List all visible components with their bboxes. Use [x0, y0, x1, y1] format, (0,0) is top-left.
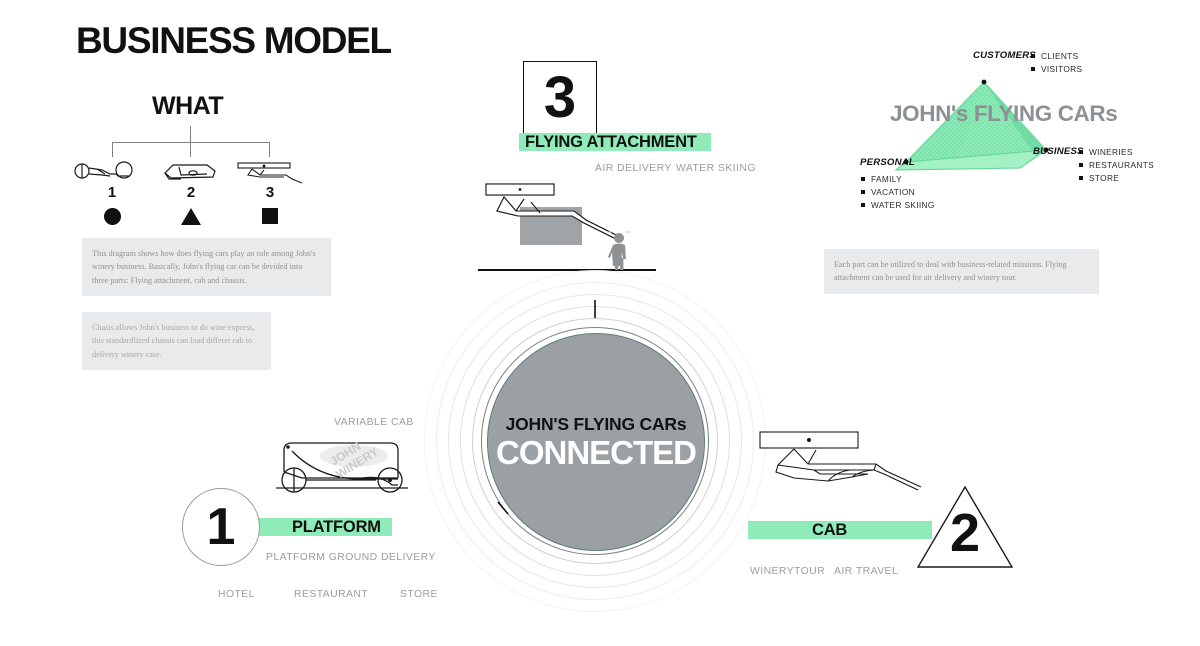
vertex-label-personal: PERSONAL: [860, 157, 915, 168]
badge-platform[interactable]: 1: [182, 488, 260, 566]
caption-air-travel: AIR TRAVEL: [834, 566, 898, 577]
platform-bar[interactable]: PLATFORM: [248, 518, 392, 536]
what-item-3-number: 3: [230, 184, 310, 201]
platform-vehicle-illustration: JOHN WINERY: [262, 430, 422, 500]
flying-attachment-bar[interactable]: FLYING ATTACHMENT: [519, 133, 711, 151]
caption-restaurant: RESTAURANT: [294, 589, 368, 600]
caption-air-delivery: AIR DELIVERY: [595, 163, 672, 174]
caption-water-skiing: WATER SKIING: [676, 163, 756, 174]
triangle-overlay-text: JOHN's FLYING CARs: [890, 101, 1117, 127]
cab-bar[interactable]: CAB: [748, 521, 932, 539]
hub-core[interactable]: JOHN'S FLYING CARs CONNECTED: [487, 333, 705, 551]
bracket-drop-left: [112, 142, 113, 157]
bracket-drop-mid: [190, 142, 191, 157]
triangle-icon: [181, 208, 201, 225]
vertex-list-customers: CLIENTS VISITORS: [1031, 50, 1082, 76]
list-item: VACATION: [861, 186, 935, 199]
flying-attachment-label: FLYING ATTACHMENT: [519, 133, 697, 152]
badge-cab-number: 2: [915, 506, 1015, 560]
cab-label: CAB: [748, 521, 847, 540]
hub-title-line2: CONNECTED: [496, 436, 696, 471]
flying-attachment-illustration: [478, 180, 698, 280]
chassis-platform-icon: [72, 158, 152, 184]
platform-label: PLATFORM: [248, 518, 381, 537]
list-item: WATER SKIING: [861, 199, 935, 212]
bracket-stem: [190, 126, 191, 142]
cab-icon: [151, 158, 231, 184]
what-item-2-number: 2: [151, 184, 231, 201]
caption-variable-cab: VARIABLE CAB: [334, 417, 414, 428]
what-item-3[interactable]: 3: [230, 158, 310, 224]
vertex-list-business: WINERIES RESTAURANTS STORE: [1079, 146, 1154, 185]
caption-store: STORE: [400, 589, 438, 600]
chassis-note: Chasis allows John's business to do wine…: [82, 312, 271, 370]
list-item: RESTAURANTS: [1079, 159, 1154, 172]
vertex-label-business: BUSINESS: [1033, 146, 1084, 157]
list-item: VISITORS: [1031, 63, 1082, 76]
page-title: BUSINESS MODEL: [76, 22, 391, 59]
hub-circle: JOHN'S FLYING CARs CONNECTED: [424, 270, 766, 612]
badge-platform-number: 1: [207, 501, 236, 553]
bracket-drop-right: [269, 142, 270, 157]
diagram-note: This dragram shows how does flying cars …: [82, 238, 331, 296]
list-item: WINERIES: [1079, 146, 1154, 159]
square-icon: [262, 208, 278, 224]
what-item-2[interactable]: 2: [151, 158, 231, 225]
flying-attachment-icon: [230, 158, 310, 184]
circle-icon: [104, 208, 121, 225]
badge-flying-attachment[interactable]: 3: [523, 61, 597, 135]
cab-illustration: [756, 424, 941, 496]
what-item-1-number: 1: [72, 184, 152, 201]
what-item-1[interactable]: 1: [72, 158, 152, 225]
what-section-title: WHAT: [152, 92, 223, 121]
business-note: Each part can be utilized to deal with b…: [824, 249, 1099, 294]
caption-hotel: HOTEL: [218, 589, 255, 600]
hub-title-line1: JOHN'S FLYING CARs: [506, 414, 687, 435]
badge-cab[interactable]: 2: [915, 484, 1015, 570]
caption-platform-ground-delivery: PLATFORM GROUND DELIVERY: [266, 552, 436, 563]
list-item: STORE: [1079, 172, 1154, 185]
badge-flying-attachment-number: 3: [544, 69, 576, 127]
vertex-label-customers: CUSTOMERS: [973, 50, 1036, 61]
list-item: CLIENTS: [1031, 50, 1082, 63]
caption-winerytour: WINERYTOUR: [750, 566, 825, 577]
vertex-list-personal: FAMILY VACATION WATER SKIING: [861, 173, 935, 212]
list-item: FAMILY: [861, 173, 935, 186]
